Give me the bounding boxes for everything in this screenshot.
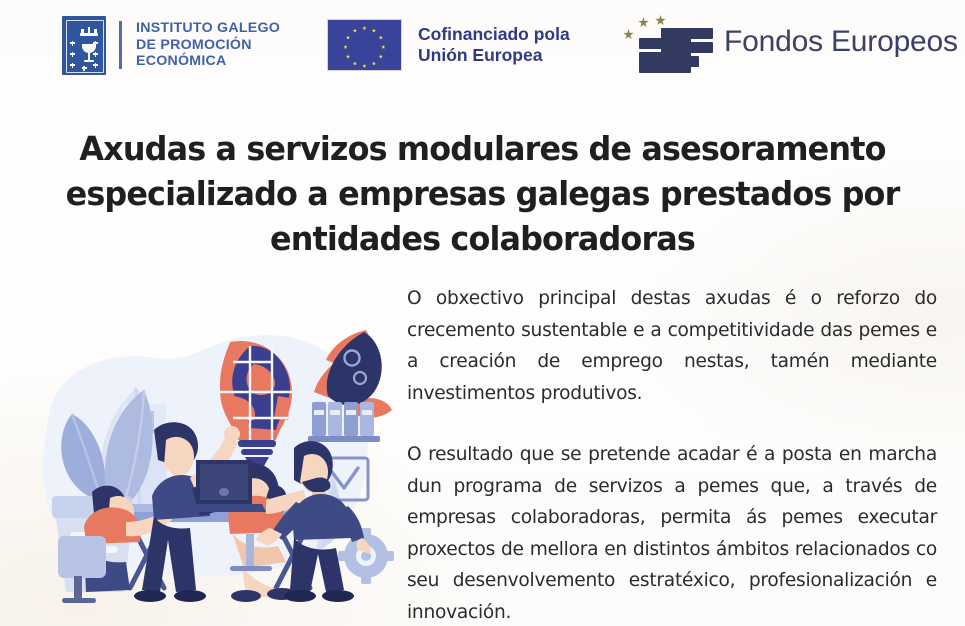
body-text: O obxectivo principal destas axudas é o … bbox=[407, 283, 937, 626]
document-page: INSTITUTO GALEGO DE PROMOCIÓN ECONÓMICA bbox=[0, 0, 965, 626]
igape-text-line-2: DE PROMOCIÓN bbox=[136, 37, 280, 54]
page-title-line-3: entidades colaboradoras bbox=[48, 216, 917, 261]
crown-icon bbox=[80, 28, 98, 36]
eu-text-line-1: Cofinanciado pola bbox=[418, 24, 570, 45]
binder-shelf bbox=[308, 402, 380, 442]
logo-divider bbox=[119, 21, 122, 69]
igape-logo-text: INSTITUTO GALEGO DE PROMOCIÓN ECONÓMICA bbox=[136, 20, 280, 70]
funding-logo-bar: INSTITUTO GALEGO DE PROMOCIÓN ECONÓMICA bbox=[0, 0, 965, 88]
eu-text-line-2: Unión Europea bbox=[418, 45, 570, 66]
eu-logo-text: Cofinanciado pola Unión Europea bbox=[418, 24, 570, 66]
body-paragraph-1: O obxectivo principal destas axudas é o … bbox=[407, 283, 937, 409]
fondos-europeos-logo-text: Fondos Europeos bbox=[724, 25, 958, 59]
stepped-bars-logo-icon bbox=[620, 11, 716, 73]
galicia-coat-of-arms-icon bbox=[62, 16, 106, 75]
igape-logo: INSTITUTO GALEGO DE PROMOCIÓN ECONÓMICA bbox=[62, 14, 280, 76]
european-union-flag-icon bbox=[327, 19, 402, 71]
european-union-logo: Cofinanciado pola Unión Europea bbox=[327, 17, 570, 73]
page-title-line-1: Axudas a servizos modulares de asesorame… bbox=[48, 126, 917, 171]
igape-text-line-1: INSTITUTO GALEGO bbox=[136, 20, 280, 37]
igape-text-line-3: ECONÓMICA bbox=[136, 53, 280, 70]
fondos-europeos-logo: Fondos Europeos bbox=[620, 10, 958, 74]
body-paragraph-2: O resultado que se pretende acadar é a p… bbox=[407, 439, 937, 626]
team-brainstorming-illustration bbox=[14, 300, 400, 620]
page-title: Axudas a servizos modulares de asesorame… bbox=[48, 126, 917, 261]
page-title-line-2: especializado a empresas galegas prestad… bbox=[48, 171, 917, 216]
